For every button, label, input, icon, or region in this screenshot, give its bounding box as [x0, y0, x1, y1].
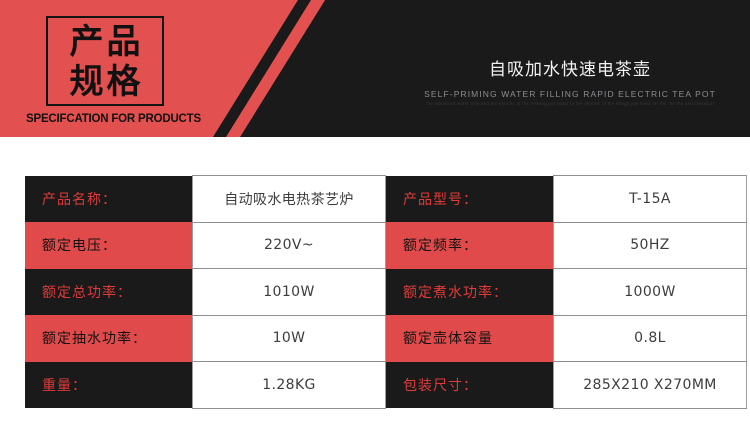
spec-value-voltage: 220V~ [193, 222, 386, 269]
table-row: 额定总功率： 1010W 额定煮水功率： 1000W [25, 269, 747, 316]
spec-value-frequency: 50HZ [554, 222, 747, 269]
spec-value-package-size: 285X210 X270MM [554, 362, 747, 409]
spec-value-boiling-power: 1000W [554, 269, 747, 316]
specification-table: 产品名称： 自动吸水电热茶艺炉 产品型号： T-15A 额定电压： 220V~ … [25, 175, 747, 409]
spec-value-model: T-15A [554, 176, 747, 223]
table-row: 产品名称： 自动吸水电热茶艺炉 产品型号： T-15A [25, 176, 747, 223]
table-row: 额定抽水功率： 10W 额定壶体容量 0.8L [25, 315, 747, 362]
headline-fine-print: the advanced water only and the electric… [400, 101, 740, 106]
spec-value-weight: 1.28KG [193, 362, 386, 409]
table-row: 重量： 1.28KG 包装尺寸： 285X210 X270MM [25, 362, 747, 409]
badge-line-2: 规格 [48, 62, 162, 102]
spec-label-model: 产品型号： [386, 176, 554, 223]
spec-label-voltage: 额定电压： [25, 222, 193, 269]
product-spec-badge: 产品 规格 SPECIFCATION FOR PRODUCTS [26, 16, 184, 125]
product-headline: 自吸加水快速电茶壶 SELF-PRIMING WATER FILLING RAP… [400, 60, 740, 106]
headline-english: SELF-PRIMING WATER FILLING RAPID ELECTRI… [400, 89, 740, 99]
spec-value-product-name: 自动吸水电热茶艺炉 [193, 176, 386, 223]
spec-label-boiling-power: 额定煮水功率： [386, 269, 554, 316]
spec-label-product-name: 产品名称： [25, 176, 193, 223]
spec-label-capacity: 额定壶体容量 [386, 315, 554, 362]
spec-label-pump-power: 额定抽水功率： [25, 315, 193, 362]
badge-line-1: 产品 [48, 22, 162, 62]
spec-label-frequency: 额定频率： [386, 222, 554, 269]
header-banner: 产品 规格 SPECIFCATION FOR PRODUCTS 自吸加水快速电茶… [0, 0, 750, 137]
headline-chinese: 自吸加水快速电茶壶 [400, 60, 740, 80]
spec-label-total-power: 额定总功率： [25, 269, 193, 316]
spec-label-package-size: 包装尺寸： [386, 362, 554, 409]
spec-value-total-power: 1010W [193, 269, 386, 316]
specification-table-body: 产品名称： 自动吸水电热茶艺炉 产品型号： T-15A 额定电压： 220V~ … [25, 176, 747, 409]
table-row: 额定电压： 220V~ 额定频率： 50HZ [25, 222, 747, 269]
spec-label-weight: 重量： [25, 362, 193, 409]
product-spec-badge-box: 产品 规格 [46, 16, 164, 106]
badge-subtitle: SPECIFCATION FOR PRODUCTS [26, 113, 184, 125]
spec-value-pump-power: 10W [193, 315, 386, 362]
spec-value-capacity: 0.8L [554, 315, 747, 362]
